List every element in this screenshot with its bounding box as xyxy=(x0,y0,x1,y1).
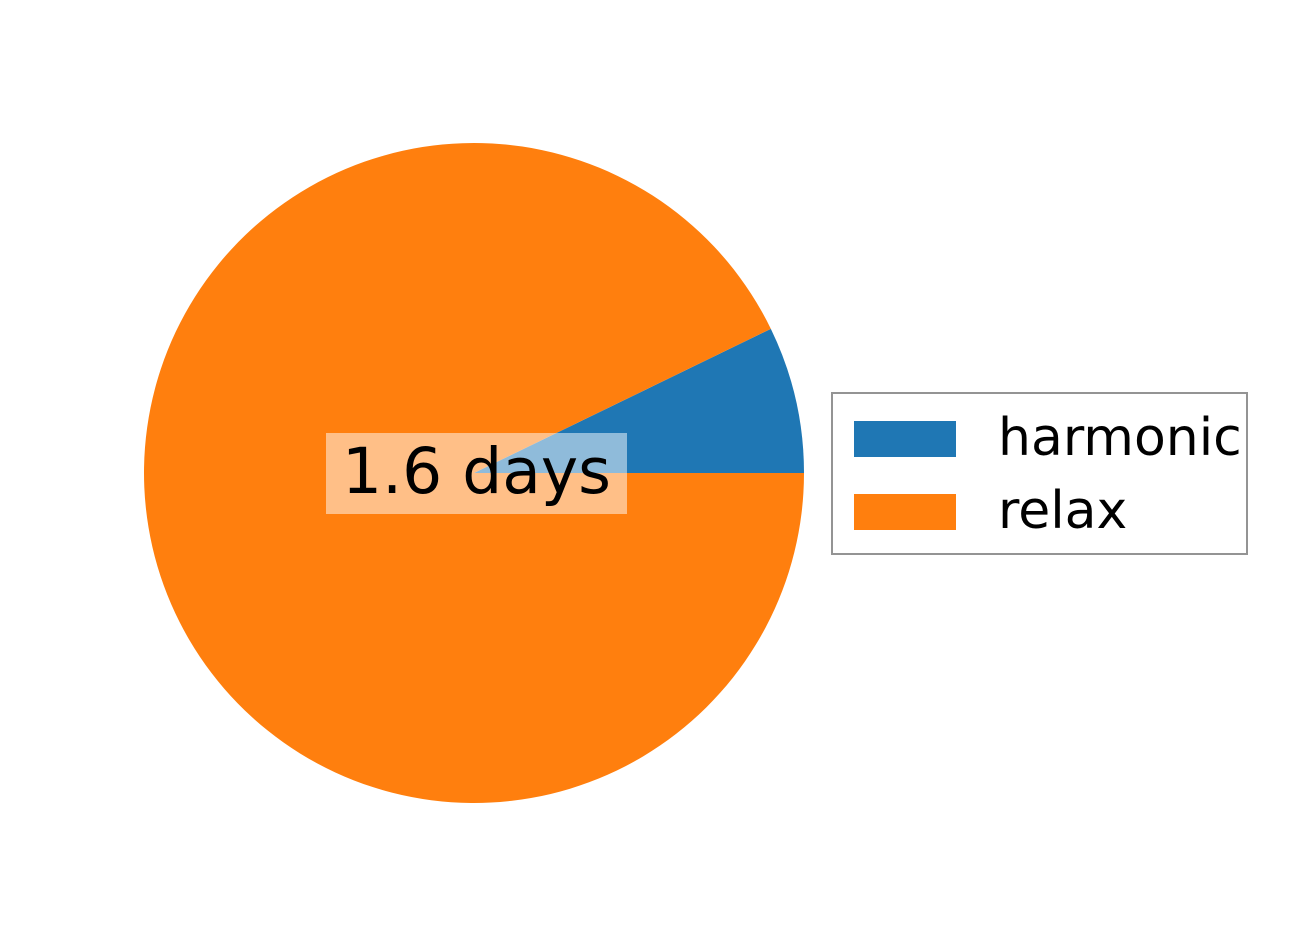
center-value-text: 1.6 days xyxy=(342,440,611,503)
figure-canvas: 1.6 days harmonicrelax xyxy=(0,0,1307,951)
legend-label-relax: relax xyxy=(998,485,1127,537)
legend-swatch-relax xyxy=(854,494,956,530)
center-value-label: 1.6 days xyxy=(326,433,627,514)
legend-entry-relax[interactable]: relax xyxy=(854,486,1234,538)
legend-box: harmonicrelax xyxy=(831,392,1248,555)
legend-entries: harmonicrelax xyxy=(833,394,1246,553)
legend-entry-harmonic[interactable]: harmonic xyxy=(854,413,1234,465)
legend-label-harmonic: harmonic xyxy=(998,412,1242,464)
legend-swatch-harmonic xyxy=(854,421,956,457)
